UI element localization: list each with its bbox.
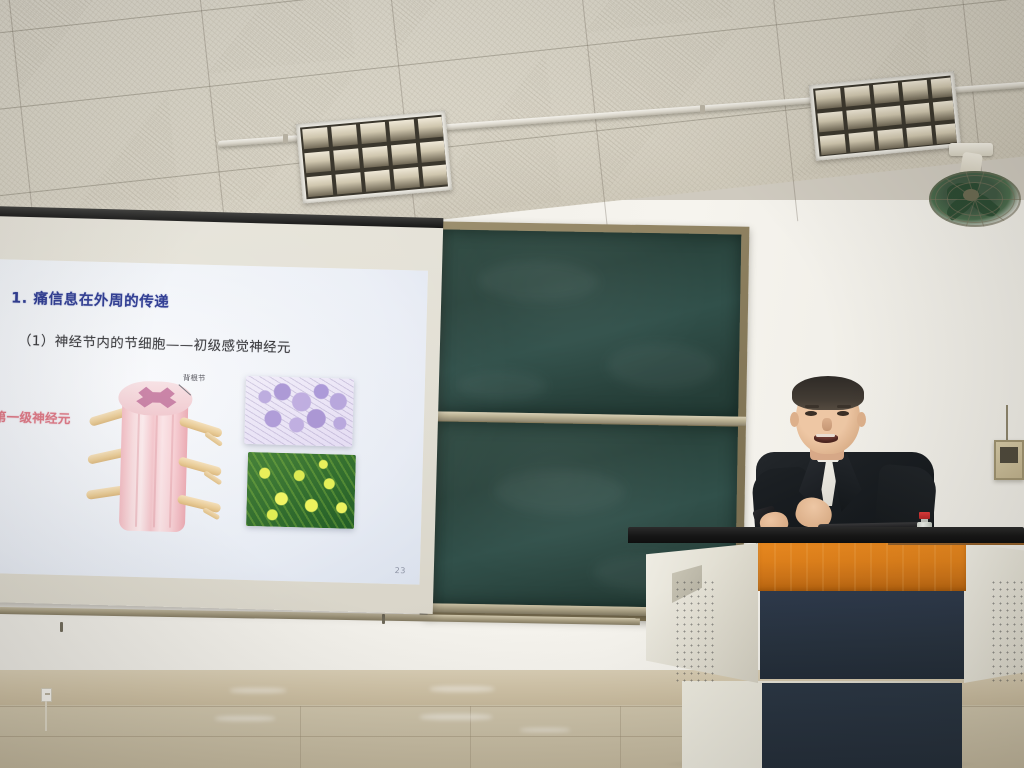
wall-box-face [1000, 447, 1018, 463]
eyebrow-right [837, 405, 851, 408]
floor-reflection [520, 728, 570, 732]
speaker-grille-left [674, 579, 714, 684]
floor-reflection [215, 716, 275, 721]
lectern-podium [620, 521, 1024, 768]
wall-mounted-fan [925, 143, 1024, 243]
podium-desktop [628, 527, 1024, 543]
presentation-slide: 1. 痛信息在外周的传递 （1）神经节内的节细胞——初级感觉神经元 第一级神经元 [0, 259, 428, 585]
conduit-clip [700, 105, 705, 114]
hair [792, 376, 864, 410]
wainscot-reflection [430, 686, 494, 692]
floor-grout-line [300, 706, 301, 768]
slide-red-label: 第一级神经元 [0, 406, 71, 427]
nose [822, 418, 832, 431]
speaker-grille-right [990, 579, 1024, 684]
teeth [816, 434, 835, 437]
ear-left [790, 412, 799, 427]
wall-control-box[interactable] [994, 440, 1024, 480]
dorsal-root-ganglion-label: 背根节 [183, 372, 206, 384]
fan-hub [963, 189, 979, 201]
lecture-hall-photo: 1. 痛信息在外周的传递 （1）神经节内的节细胞——初级感觉神经元 第一级神经元 [0, 0, 1024, 768]
power-outlet[interactable] [41, 688, 52, 702]
wood-grain [758, 543, 966, 591]
projection-screen: 1. 痛信息在外周的传递 （1）神经节内的节细胞——初级感觉神经元 第一级神经元 [0, 216, 443, 614]
outlet-slot [45, 693, 50, 695]
spinal-cord-illustration [85, 372, 227, 536]
louver-cells [300, 115, 448, 200]
eye-right [837, 411, 849, 416]
floor-reflection [420, 714, 492, 720]
chalkboard-panel-upper [436, 229, 741, 416]
rail-peg [382, 614, 385, 624]
conduit-clip [283, 134, 288, 143]
eye-left [805, 411, 817, 416]
podium-lower-panel [762, 683, 962, 768]
wall-box-conduit [1006, 405, 1008, 443]
rail-peg [60, 622, 63, 632]
bottle-cap [919, 512, 930, 519]
podium-wood-top [758, 543, 966, 591]
ear-right [857, 412, 866, 427]
slide-title: 1. 痛信息在外周的传递 [11, 287, 170, 312]
slide-subtitle: （1）神经节内的节细胞——初级感觉神经元 [18, 329, 292, 356]
podium-front-panel [760, 591, 964, 679]
fluorescence-neuron-micrograph [246, 452, 356, 529]
drg-histology-micrograph [244, 376, 354, 447]
slide-page-number: 23 [395, 566, 406, 575]
outlet-conduit [45, 701, 47, 731]
eyebrow-left [805, 405, 819, 408]
wainscot-reflection [230, 688, 286, 693]
louver-light-left [296, 110, 453, 203]
floor-grout-line [0, 736, 700, 737]
